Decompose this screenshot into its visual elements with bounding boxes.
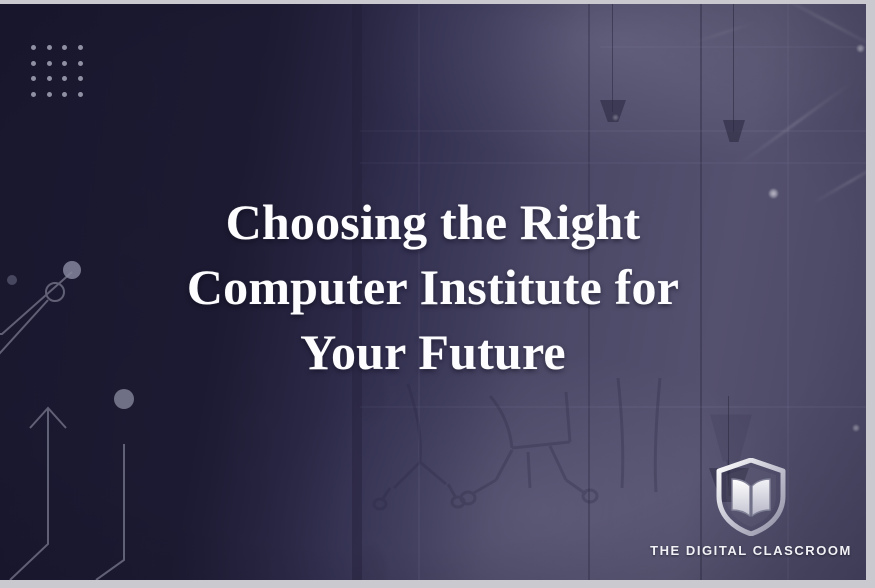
title-line-2: Computer Institute for bbox=[70, 255, 796, 320]
title-line-1: Choosing the Right bbox=[70, 190, 796, 255]
slide-frame: Choosing the Right Computer Institute fo… bbox=[0, 0, 875, 588]
brand-logo: THE DIGITAL CLASCROOM bbox=[658, 458, 844, 558]
title-line-3: Your Future bbox=[70, 320, 796, 385]
brand-name: THE DIGITAL CLASCROOM bbox=[650, 543, 852, 558]
slide-title: Choosing the Right Computer Institute fo… bbox=[0, 190, 866, 385]
shield-book-icon bbox=[715, 458, 787, 536]
slide-canvas: Choosing the Right Computer Institute fo… bbox=[0, 4, 866, 580]
dot-grid-icon bbox=[26, 40, 88, 102]
